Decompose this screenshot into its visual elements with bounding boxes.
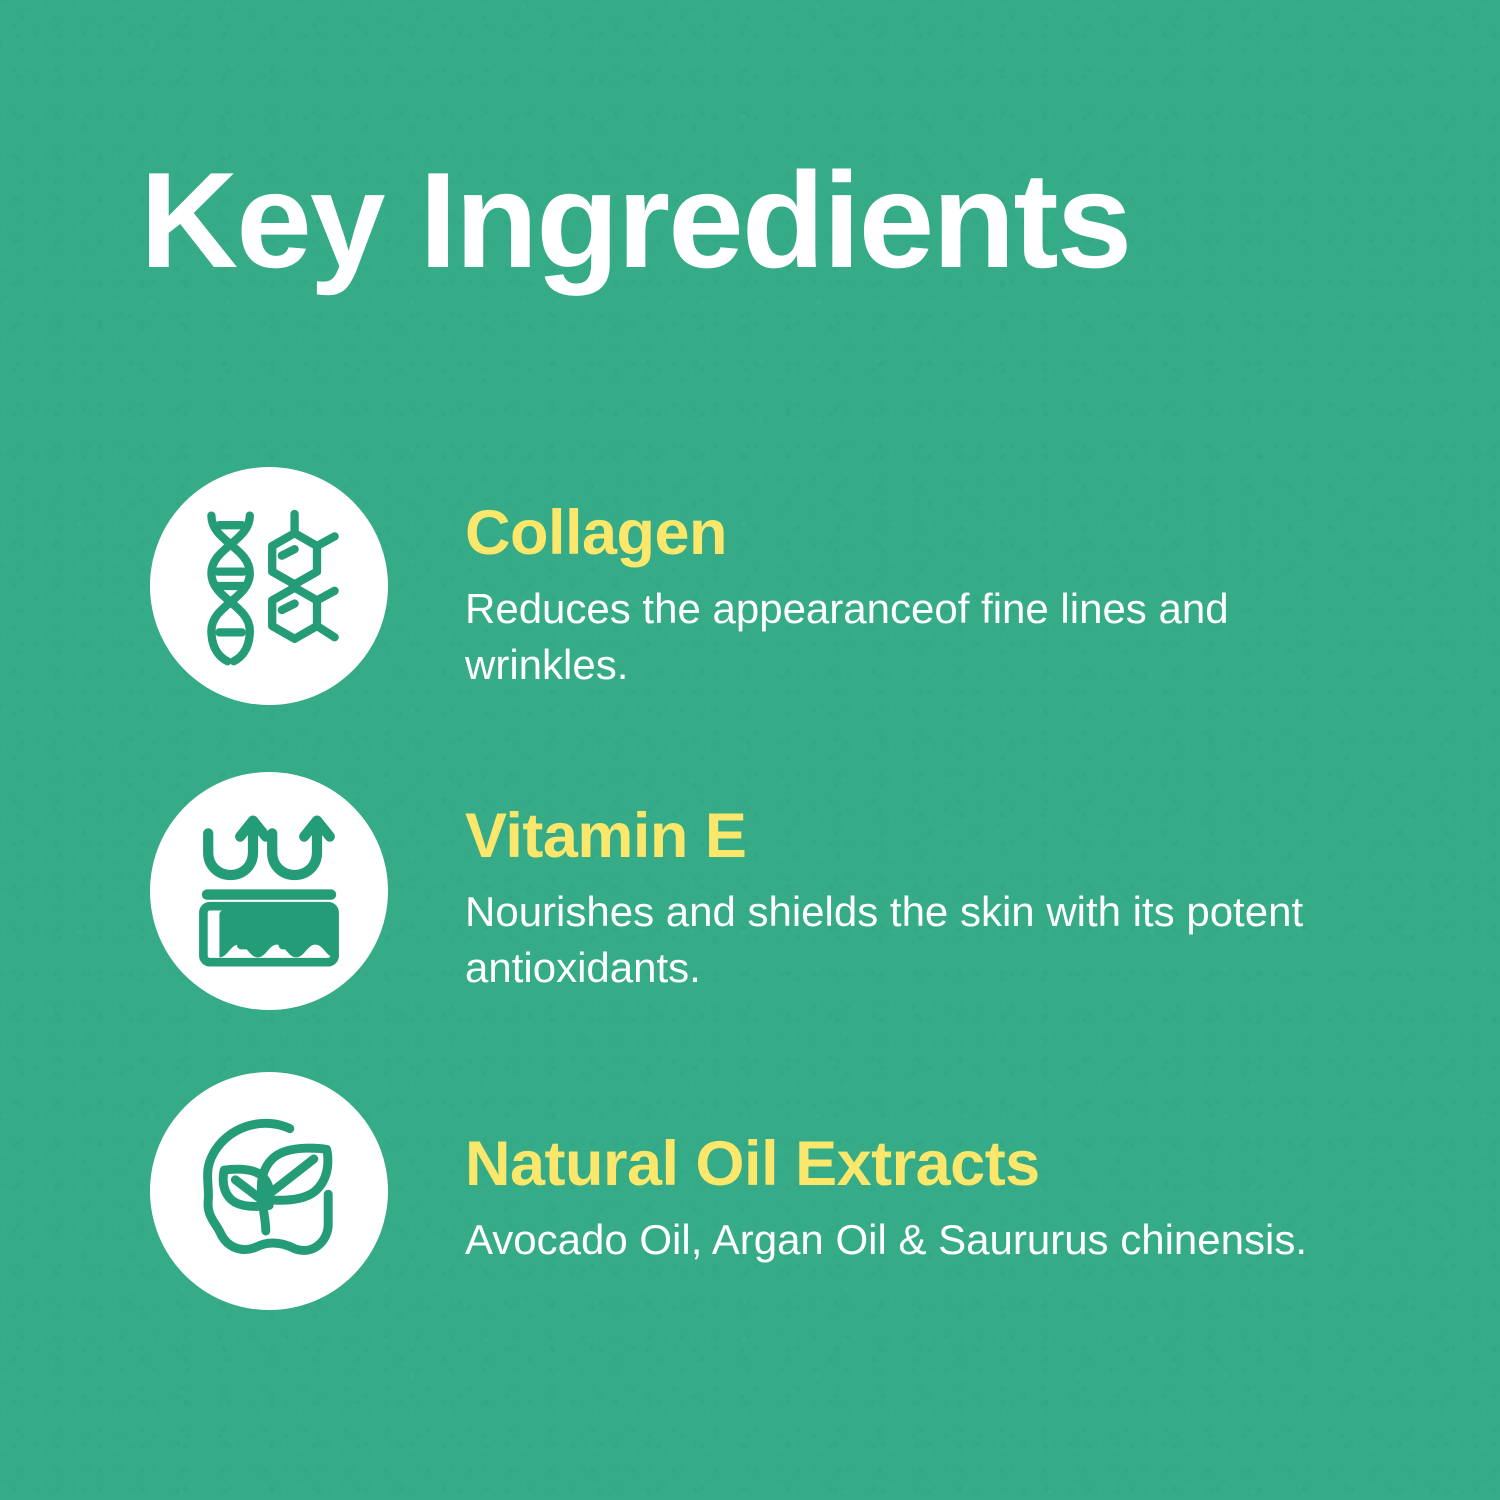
skin-layer-absorption-icon [189, 811, 349, 971]
key-ingredients-poster: Key Ingredients [0, 0, 1500, 1500]
ingredient-text-block: Natural Oil Extracts Avocado Oil, Argan … [465, 1072, 1307, 1268]
ingredient-text-block: Collagen Reduces the appearanceof fine l… [465, 467, 1365, 694]
ingredient-description: Avocado Oil, Argan Oil & Saururus chinen… [465, 1212, 1307, 1268]
ingredient-text-block: Vitamin E Nourishes and shields the skin… [465, 772, 1345, 997]
ingredient-icon-badge [150, 1072, 388, 1310]
ingredient-description: Nourishes and shields the skin with its … [465, 884, 1345, 997]
ingredient-heading: Collagen [465, 499, 1365, 567]
ingredient-item-vitamin-e: Vitamin E Nourishes and shields the skin… [150, 772, 1450, 1010]
ingredient-heading: Natural Oil Extracts [465, 1130, 1307, 1198]
ingredient-item-collagen: Collagen Reduces the appearanceof fine l… [150, 467, 1450, 705]
plant-sprout-leaf-icon [189, 1111, 349, 1271]
ingredient-icon-badge [150, 772, 388, 1010]
page-title: Key Ingredients [140, 152, 1130, 288]
ingredient-heading: Vitamin E [465, 802, 1345, 870]
ingredient-item-natural-oil-extracts: Natural Oil Extracts Avocado Oil, Argan … [150, 1072, 1450, 1310]
dna-molecule-icon [189, 506, 349, 666]
ingredient-description: Reduces the appearanceof fine lines and … [465, 581, 1365, 694]
ingredient-icon-badge [150, 467, 388, 705]
